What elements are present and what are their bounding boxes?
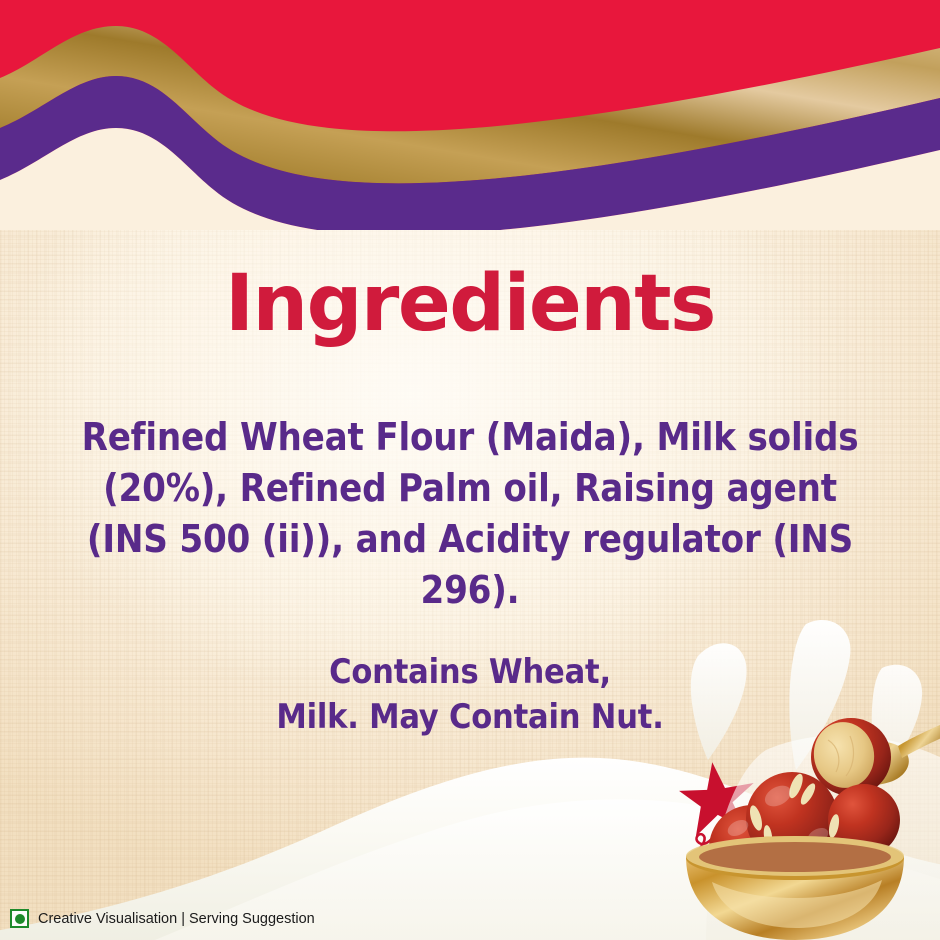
- footer-caption: Creative Visualisation | Serving Suggest…: [38, 911, 315, 927]
- page-title: Ingredients: [0, 258, 940, 350]
- ingredients-poster: Ingredients Refined Wheat Flour (Maida),…: [0, 0, 940, 940]
- ingredients-text: Refined Wheat Flour (Maida), Milk solids…: [70, 412, 870, 616]
- vegetarian-mark-icon: [10, 909, 29, 928]
- vegetarian-dot: [15, 914, 25, 924]
- poster-content: Ingredients Refined Wheat Flour (Maida),…: [0, 0, 940, 940]
- footer-caption-group: Creative Visualisation | Serving Suggest…: [10, 909, 315, 928]
- allergen-line-1: Contains Wheat,: [329, 652, 611, 692]
- allergen-line-2: Milk. May Contain Nut.: [70, 695, 870, 740]
- allergen-statement: Contains Wheat, Milk. May Contain Nut.: [70, 650, 870, 740]
